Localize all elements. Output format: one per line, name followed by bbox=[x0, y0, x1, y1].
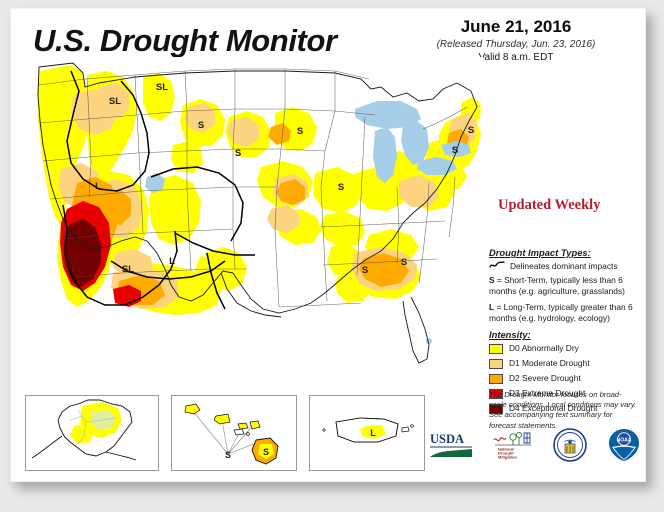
svg-text:S: S bbox=[198, 120, 204, 131]
short-term-definition: S = Short-Term, typically less than 6 mo… bbox=[489, 275, 639, 297]
noaa-logo: NOAA bbox=[607, 428, 641, 462]
ndmc-logo: National Drought Mitigation bbox=[493, 429, 533, 461]
legend-item-d2: D2 Severe Drought bbox=[489, 373, 639, 384]
updated-weekly-note: Updated Weekly bbox=[498, 197, 600, 214]
svg-text:S: S bbox=[338, 182, 344, 193]
hawaii-islands-d0 bbox=[185, 404, 260, 429]
impact-symbol-label: Delineates dominant impacts bbox=[510, 261, 618, 271]
usda-seal bbox=[553, 428, 587, 462]
long-term-definition: L = Long-Term, typically greater than 6 … bbox=[489, 302, 639, 324]
legend-label-d2: D2 Severe Drought bbox=[509, 373, 581, 383]
legend-item-d0: D0 Abnormally Dry bbox=[489, 343, 639, 354]
usda-logo: USDA bbox=[429, 430, 473, 460]
svg-text:SL: SL bbox=[109, 96, 121, 107]
hawaii-label-s-island: S bbox=[263, 447, 269, 457]
map-date: June 21, 2016 bbox=[401, 17, 631, 37]
long-term-text: = Long-Term, typically greater than 6 mo… bbox=[489, 302, 633, 323]
svg-text:S: S bbox=[235, 148, 241, 159]
squiggle-line-icon bbox=[489, 260, 505, 270]
puerto-rico-label-l: L bbox=[370, 428, 376, 438]
impact-types-heading: Drought Impact Types: bbox=[489, 247, 639, 258]
swatch-d0 bbox=[489, 344, 503, 354]
svg-text:L: L bbox=[95, 181, 101, 192]
legend-item-d1: D1 Moderate Drought bbox=[489, 358, 639, 369]
hawaii-label-s-main: S bbox=[225, 450, 231, 460]
swatch-d2 bbox=[489, 374, 503, 384]
drought-monitor-card: U.S. Drought Monitor June 21, 2016 (Rele… bbox=[10, 8, 646, 482]
svg-text:L: L bbox=[169, 256, 175, 267]
legend-label-d0: D0 Abnormally Dry bbox=[509, 343, 579, 353]
svg-text:NOAA: NOAA bbox=[617, 438, 632, 444]
svg-text:SL: SL bbox=[122, 264, 134, 275]
alaska-inset-map bbox=[25, 395, 159, 471]
svg-text:Mitigation: Mitigation bbox=[498, 455, 517, 460]
release-date: (Released Thursday, Jun. 23, 2016) bbox=[401, 39, 631, 50]
conus-drought-map: SL SL S S S L SL L S S S S S S bbox=[25, 57, 483, 387]
intensity-heading: Intensity: bbox=[489, 329, 639, 340]
puerto-rico-inset-map: L bbox=[309, 395, 425, 471]
swatch-d1 bbox=[489, 359, 503, 369]
impact-symbol-row: Delineates dominant impacts bbox=[489, 261, 639, 271]
agency-logos: USDA National Drought Mitigation bbox=[429, 421, 641, 469]
legend-label-d1: D1 Moderate Drought bbox=[509, 358, 590, 368]
svg-text:S: S bbox=[297, 126, 303, 137]
hawaii-inset-map: S S bbox=[171, 395, 297, 471]
svg-text:S: S bbox=[452, 145, 458, 156]
svg-text:S: S bbox=[401, 257, 407, 268]
page-title: U.S. Drought Monitor bbox=[33, 23, 337, 59]
short-term-text: = Short-Term, typically less than 6 mont… bbox=[489, 275, 625, 296]
svg-text:S: S bbox=[362, 265, 368, 276]
svg-text:USDA: USDA bbox=[430, 432, 464, 446]
svg-text:S: S bbox=[468, 125, 474, 136]
svg-text:SL: SL bbox=[156, 82, 168, 93]
